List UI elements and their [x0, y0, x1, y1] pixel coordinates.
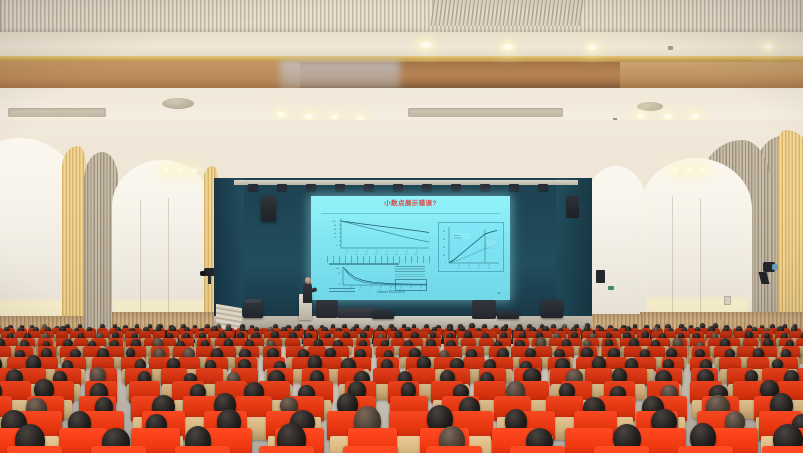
arch-panel-seam-right-1	[672, 196, 673, 318]
truss-fixture-5	[364, 184, 374, 191]
ceiling-slat-panel-angled	[430, 0, 584, 26]
audience-seat	[678, 446, 733, 453]
stage-monitor-2	[372, 310, 394, 319]
svg-text:50: 50	[338, 273, 340, 275]
truss-fixture-3	[306, 184, 316, 191]
svg-text:20: 20	[443, 255, 445, 257]
audience-seat	[426, 446, 481, 453]
svg-text:0: 0	[336, 245, 338, 247]
svg-text:60: 60	[334, 229, 337, 231]
downlight-left-wall-2	[177, 168, 183, 171]
ceiling-slat-panel	[0, 0, 803, 34]
downlight-right-wall-2	[686, 168, 692, 171]
stage-monitor-1-top	[245, 299, 261, 303]
downlight-upper-4	[763, 44, 773, 49]
slide-figure-right: 8060 40200 ExposedUnexposed	[438, 222, 504, 272]
slide-figure-top-left: 10080 6040 200 61218 243036	[325, 217, 433, 257]
ceiling-speaker-dome-2	[637, 102, 663, 111]
svg-text:Exposed: Exposed	[454, 235, 460, 237]
svg-text:100: 100	[336, 268, 339, 270]
downlight-left-wall-1	[163, 168, 169, 171]
projection-screen: 小数点展示错误? 10080	[311, 196, 510, 300]
downlight-upper-2	[503, 44, 513, 50]
speaker-left-wall-box	[596, 270, 605, 283]
ceiling-wood-band-left	[0, 62, 300, 90]
audience-seat	[259, 446, 314, 453]
downlight-lower-6	[664, 114, 672, 119]
svg-text:60: 60	[443, 239, 445, 241]
svg-text:12: 12	[478, 268, 480, 270]
ceiling-vent-left	[8, 108, 106, 117]
truss-fixture-8	[451, 184, 461, 191]
ceiling-speaker-dome	[162, 98, 194, 109]
downlight-lower-3	[331, 115, 338, 119]
truss-fixture-11	[538, 184, 548, 191]
truss-fixture-9	[480, 184, 490, 191]
svg-text:20: 20	[334, 237, 337, 239]
ceiling-wood-band-right	[620, 62, 803, 90]
audience-seating	[0, 326, 803, 453]
downlight-upper-1	[420, 42, 431, 48]
downlight-upper-3	[588, 45, 597, 50]
slide-title-rule	[321, 213, 500, 214]
exit-sign-right	[608, 286, 614, 290]
svg-text:0: 0	[339, 284, 340, 286]
wall-camera-left-mount	[208, 276, 211, 284]
svg-text:8: 8	[468, 268, 469, 270]
presenter-head	[305, 277, 311, 284]
proscenium-wall-left	[214, 178, 244, 320]
ceiling-band-upper	[0, 32, 803, 58]
hanging-speaker-left	[261, 196, 276, 221]
audience-seat	[510, 446, 565, 453]
slide-annotation-block-1	[395, 266, 425, 278]
svg-text:0: 0	[445, 262, 446, 264]
truss-fixture-4	[335, 184, 345, 191]
ceiling-light-haze	[280, 60, 400, 90]
downlight-lower-7	[691, 114, 699, 119]
svg-text:40: 40	[334, 233, 337, 235]
svg-text:40: 40	[443, 247, 445, 249]
svg-text:80: 80	[443, 231, 445, 233]
slide-citation: Lancet 2023;XXX	[331, 290, 451, 294]
slide-title: 小数点展示错误?	[311, 201, 510, 208]
downlight-lower-1	[277, 112, 285, 117]
stage-monitor-3	[497, 311, 519, 319]
stage-chair-right	[472, 300, 496, 319]
wall-outlet-right	[724, 296, 731, 305]
audience-seat	[594, 446, 649, 453]
stage-monitor-4	[541, 300, 563, 318]
truss-fixture-7	[422, 184, 432, 191]
svg-text:100: 100	[332, 221, 336, 223]
audience-seat	[91, 446, 146, 453]
audience-row	[0, 446, 803, 453]
svg-text:Unexposed: Unexposed	[454, 238, 462, 240]
downlight-lower-2	[305, 114, 313, 119]
downlight-right-wall-1	[672, 168, 678, 171]
ceiling-vent-right	[408, 108, 563, 117]
hanging-speaker-right	[566, 196, 579, 218]
svg-text:4: 4	[458, 268, 459, 270]
truss-fixture-1	[248, 184, 258, 191]
svg-text:80: 80	[334, 225, 337, 227]
audience-seat	[175, 446, 230, 453]
slide-page-number: 40	[497, 291, 500, 295]
audience-seat	[343, 446, 398, 453]
auditorium-photo: 小数点展示错误? 10080	[0, 0, 803, 453]
truss-fixture-10	[509, 184, 519, 191]
truss-fixture-2	[277, 184, 287, 191]
slide-numbers-at-risk	[327, 256, 433, 263]
presenter-body	[303, 283, 312, 303]
slide-figure-subtitle	[329, 263, 399, 265]
truss-fixture-6	[393, 184, 403, 191]
arch-panel-seam-left-1	[140, 200, 141, 318]
arch-panel-seam-right-2	[700, 198, 701, 318]
wall-camera-left-lens	[200, 271, 206, 276]
audience-seat	[762, 446, 803, 453]
audience-seat	[7, 446, 62, 453]
stage-monitor-1	[243, 302, 263, 318]
downlight-right-wall-3	[700, 169, 706, 172]
wall-camera-right-lens	[772, 264, 778, 270]
ceiling-sprinkler-upper	[668, 46, 673, 50]
downlight-left-wall-3	[191, 169, 197, 172]
downlight-lower-5	[637, 114, 645, 119]
arch-panel-seam-left-2	[168, 198, 169, 318]
svg-text:14: 14	[488, 268, 490, 270]
stage-chair-left	[316, 300, 338, 318]
